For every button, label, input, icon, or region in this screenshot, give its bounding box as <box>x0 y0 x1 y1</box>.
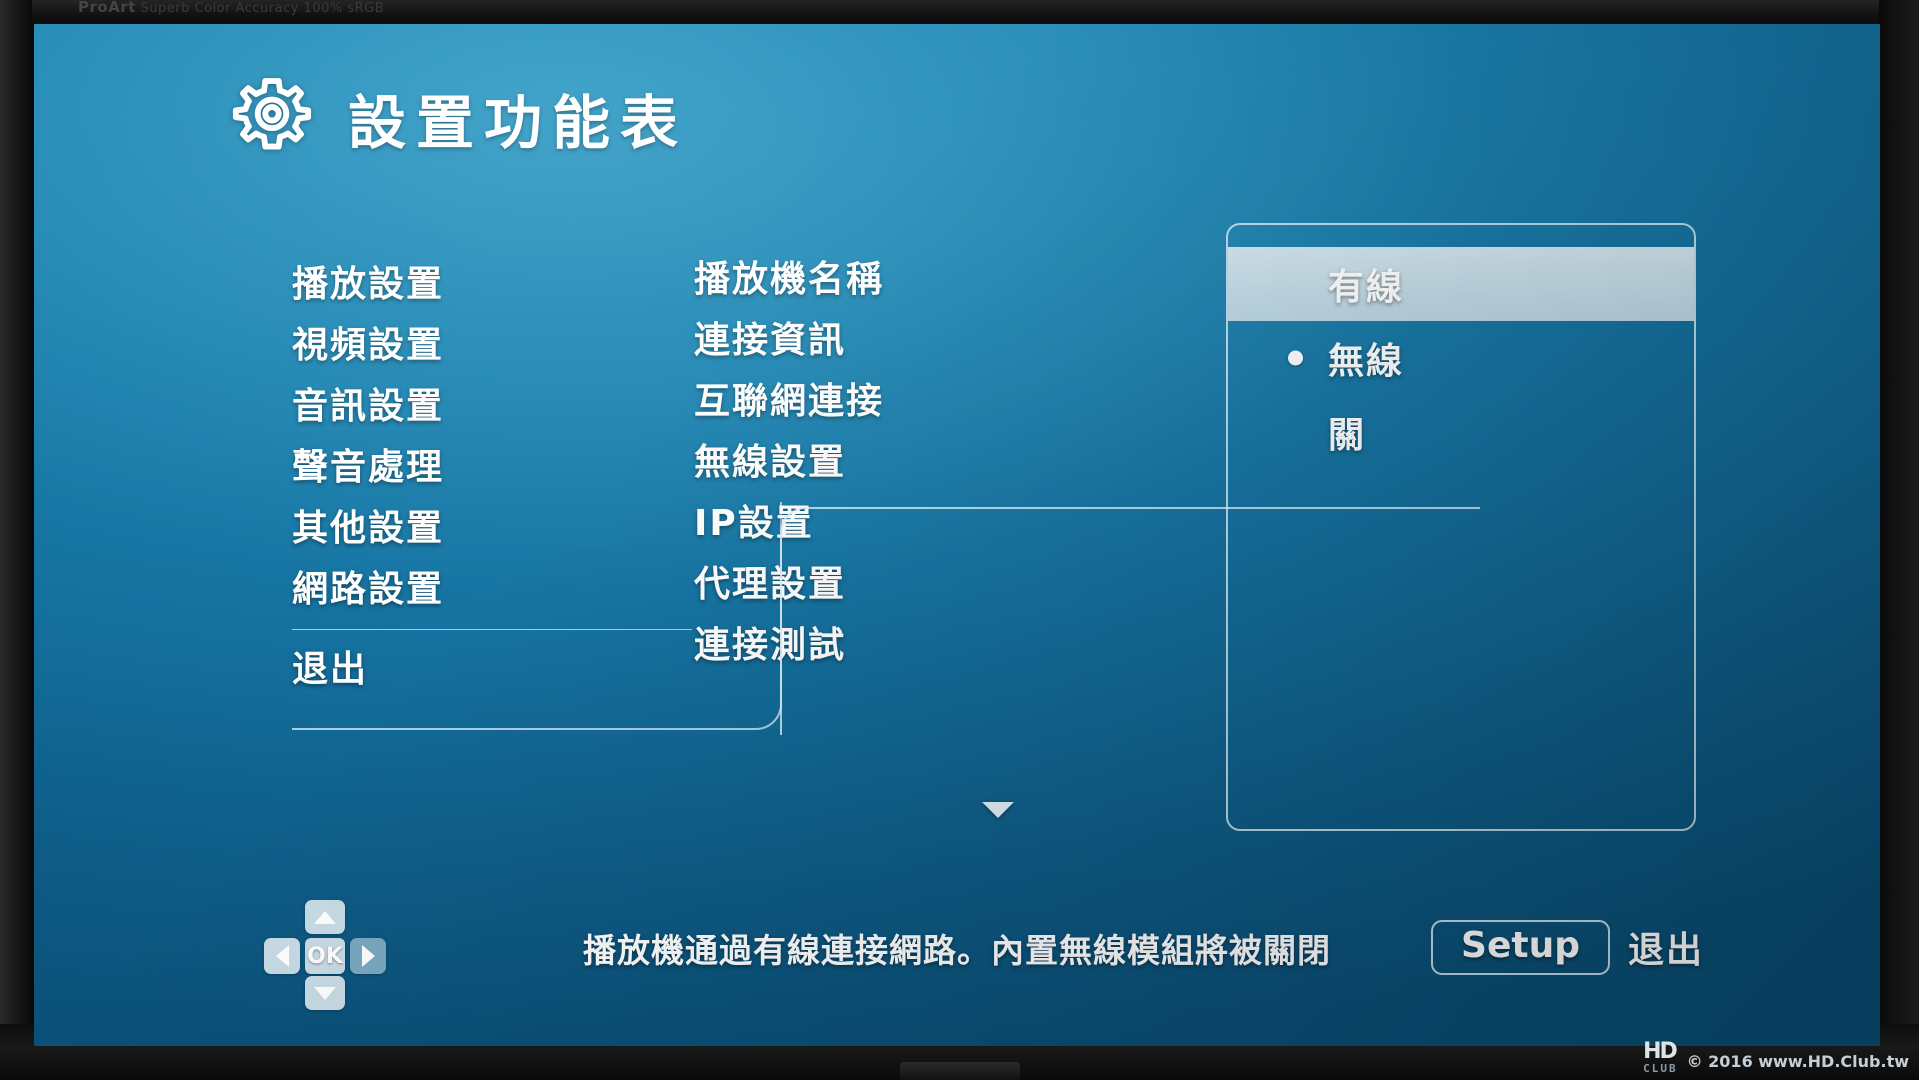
up-arrow-icon <box>314 911 336 924</box>
exit-hint-group: Setup 退出 <box>1431 920 1704 975</box>
option-label-wired: 有線 <box>1328 258 1404 310</box>
monitor-model-text: Superb Color Accuracy 100% sRGB <box>141 1 385 16</box>
watermark-logo-top: HD <box>1643 1041 1676 1063</box>
menu-divider <box>292 629 692 630</box>
watermark-text: © 2016 www.HD.Club.tw <box>1687 1052 1909 1074</box>
setup-button[interactable]: Setup <box>1431 920 1610 975</box>
hdclub-logo-icon: HD CLUB <box>1643 1041 1678 1074</box>
menu-item-sound-processing[interactable]: 聲音處理 <box>292 437 722 498</box>
option-label-wireless: 無線 <box>1328 332 1404 384</box>
submenu-item-ip-settings[interactable]: IP設置 <box>674 493 1094 554</box>
watermark-logo-bottom: CLUB <box>1643 1063 1678 1074</box>
menu-item-other-settings[interactable]: 其他設置 <box>292 498 722 559</box>
option-label-off: 關 <box>1328 406 1366 458</box>
setup-menu-ui: 設置功能表 播放設置 視頻設置 音訊設置 聲音處理 其他設置 網路設置 退出 播… <box>34 24 1880 1046</box>
page-header: 設置功能表 <box>230 76 688 160</box>
tv-screen: 設置功能表 播放設置 視頻設置 音訊設置 聲音處理 其他設置 網路設置 退出 播… <box>34 24 1880 1046</box>
submenu-item-wireless-settings[interactable]: 無線設置 <box>674 432 1094 493</box>
option-row-wired[interactable]: 有線 <box>1228 247 1694 321</box>
gear-icon <box>230 76 314 160</box>
monitor-brand-label: ProArt Superb Color Accuracy 100% sRGB <box>78 0 384 16</box>
submenu-item-internet-connection[interactable]: 互聯網連接 <box>674 371 1094 432</box>
menu-item-video-settings[interactable]: 視頻設置 <box>292 315 722 376</box>
menu-item-network-settings[interactable]: 網路設置 <box>292 559 722 620</box>
menu-item-exit[interactable]: 退出 <box>292 639 722 700</box>
chevron-down-icon[interactable] <box>982 802 1014 818</box>
option-row-wireless[interactable]: 無線 <box>1228 321 1694 395</box>
exit-label: 退出 <box>1628 921 1704 973</box>
options-panel: 有線 無線 關 <box>1226 223 1696 831</box>
watermark: HD CLUB © 2016 www.HD.Club.tw <box>1643 1041 1909 1074</box>
monitor-brand-text: ProArt <box>78 0 136 16</box>
submenu-item-connection-info[interactable]: 連接資訊 <box>674 310 1094 371</box>
option-bullet-wireless <box>1288 351 1303 366</box>
menu-item-audio-settings[interactable]: 音訊設置 <box>292 376 722 437</box>
monitor-bezel-left <box>0 0 32 1080</box>
monitor-bezel-right <box>1879 0 1919 1080</box>
main-menu-column: 播放設置 視頻設置 音訊設置 聲音處理 其他設置 網路設置 退出 <box>292 254 722 700</box>
page-title: 設置功能表 <box>348 76 688 160</box>
down-arrow-icon <box>314 987 336 1000</box>
option-row-off[interactable]: 關 <box>1228 395 1694 469</box>
monitor-photo: ProArt Superb Color Accuracy 100% sRGB 設… <box>0 0 1919 1080</box>
monitor-stand-notch <box>900 1062 1020 1080</box>
submenu-item-player-name[interactable]: 播放機名稱 <box>674 249 1094 310</box>
dpad-down-button[interactable] <box>305 976 345 1010</box>
submenu-item-proxy-settings[interactable]: 代理設置 <box>674 554 1094 615</box>
submenu-item-connection-test[interactable]: 連接測試 <box>674 615 1094 676</box>
network-submenu-column: 播放機名稱 連接資訊 互聯網連接 無線設置 IP設置 代理設置 連接測試 <box>674 249 1094 676</box>
menu-item-playback-settings[interactable]: 播放設置 <box>292 254 722 315</box>
